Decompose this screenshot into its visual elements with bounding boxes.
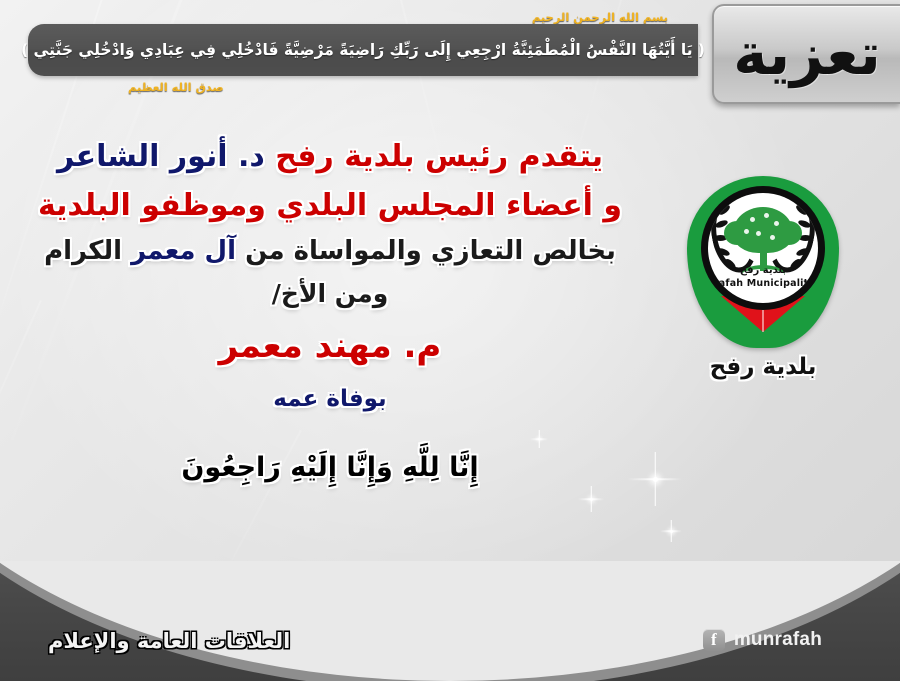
message-line-1-red: يتقدم رئيس بلدية رفح <box>275 139 603 174</box>
facebook-handle: munrafah <box>734 629 822 651</box>
deceased-relative-name: م. مهند معمر <box>0 315 660 374</box>
department-label: العلاقات العامة والإعلام <box>48 629 290 653</box>
message-line-6: بوفاة عمه <box>0 374 660 419</box>
message-line-3-navy: آل معمر <box>131 236 236 266</box>
message-line-3-b: الكرام <box>44 236 122 266</box>
message-line-2: و أعضاء المجلس البلدي وموظفو البلدية <box>0 181 660 230</box>
facebook-icon[interactable]: f <box>703 629 725 651</box>
facebook-badge[interactable]: f munrafah <box>703 629 822 651</box>
quran-verse-text: ( يَا أَيَّتُهَا النَّفْسُ الْمُطْمَئِنَ… <box>21 41 705 59</box>
inna-lillah-verse: إِنَّا لِلَّهِ وَإِنَّا إِلَيْهِ رَاجِعُ… <box>0 418 660 491</box>
sadaq-allah-text: صدق الله العظيم <box>128 80 224 94</box>
basmala-text: بسم الله الرحمن الرحيم <box>532 10 668 24</box>
sparkle-icon <box>660 520 682 542</box>
logo-caption: بلدية رفح <box>668 354 858 380</box>
title-badge: تعزية <box>712 4 900 104</box>
message-line-1: يتقدم رئيس بلدية رفح د. أنور الشاعر <box>0 132 660 181</box>
condolence-message: يتقدم رئيس بلدية رفح د. أنور الشاعر و أع… <box>0 132 660 491</box>
rafah-municipality-emblem-icon: بلدية رفح Rafah Municipality <box>687 176 839 348</box>
municipality-logo-block: بلدية رفح Rafah Municipality بلدية رفح <box>668 176 858 380</box>
condolence-card: بسم الله الرحمن الرحيم ( يَا أَيَّتُهَا … <box>0 0 900 681</box>
message-line-3-a: بخالص التعازي والمواساة من <box>245 236 616 266</box>
verse-bar: ( يَا أَيَّتُهَا النَّفْسُ الْمُطْمَئِنَ… <box>28 24 698 76</box>
message-line-1-navy: د. أنور الشاعر <box>57 139 265 174</box>
message-line-4: ومن الأخ/ <box>0 273 660 315</box>
emblem-english-label: Rafah Municipality <box>708 278 818 289</box>
footer-bar: العلاقات العامة والإعلام f munrafah <box>0 561 900 681</box>
footer-arc <box>0 561 900 681</box>
title-badge-label: تعزية <box>733 25 881 83</box>
emblem-arabic-label: بلدية رفح <box>708 265 818 276</box>
facebook-glyph: f <box>711 631 717 648</box>
message-line-3: بخالص التعازي والمواساة من آل معمر الكرا… <box>0 230 660 273</box>
